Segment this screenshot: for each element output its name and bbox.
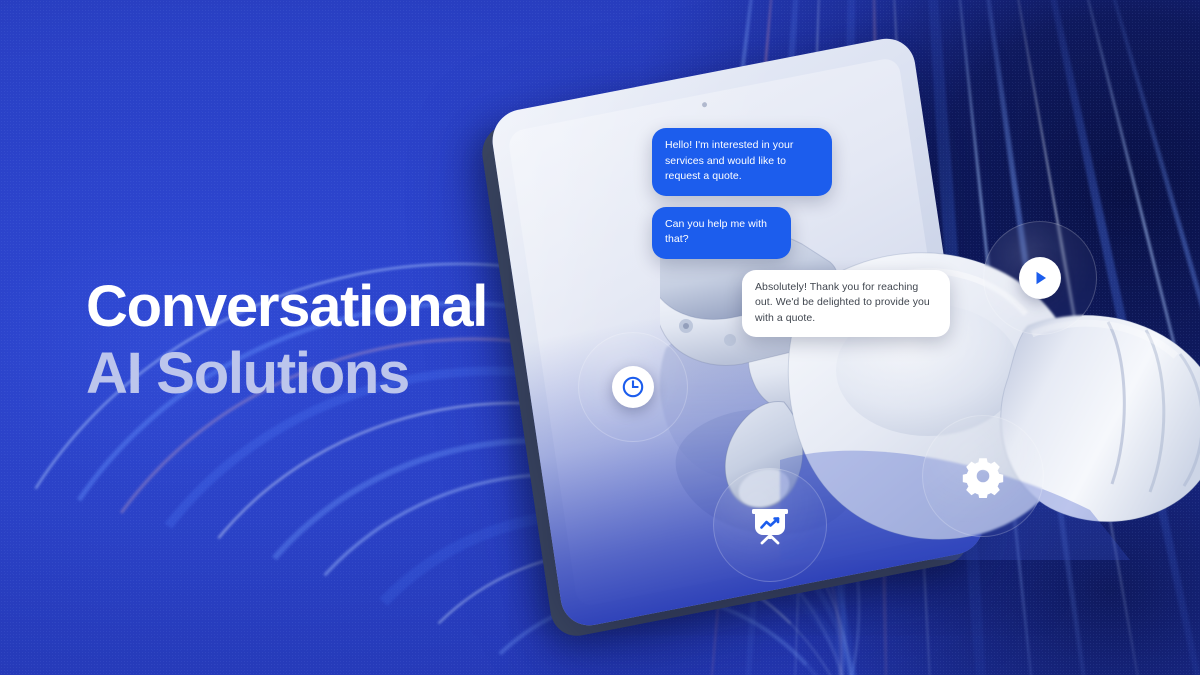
chat-bubble-received: Absolutely! Thank you for reaching out. …	[742, 270, 950, 338]
play-icon	[1019, 257, 1061, 299]
headline-line-1: Conversational	[86, 273, 546, 340]
chat-thread: Hello! I'm interested in your services a…	[652, 128, 952, 337]
camera-dot	[701, 102, 707, 108]
gear-icon	[961, 454, 1005, 498]
chat-bubble-sent: Can you help me with that?	[652, 207, 791, 259]
feature-circle-play[interactable]	[983, 221, 1097, 335]
feature-circle-clock[interactable]	[578, 332, 688, 442]
hero-banner: Hello! I'm interested in your services a…	[0, 0, 1200, 675]
feature-circle-chart[interactable]	[713, 468, 827, 582]
presentation-chart-icon	[745, 500, 795, 550]
feature-circle-gear[interactable]	[922, 415, 1044, 537]
clock-icon	[612, 366, 654, 408]
hero-headline: Conversational AI Solutions	[86, 273, 546, 408]
chat-bubble-sent: Hello! I'm interested in your services a…	[652, 128, 832, 196]
headline-line-2: AI Solutions	[86, 340, 546, 407]
